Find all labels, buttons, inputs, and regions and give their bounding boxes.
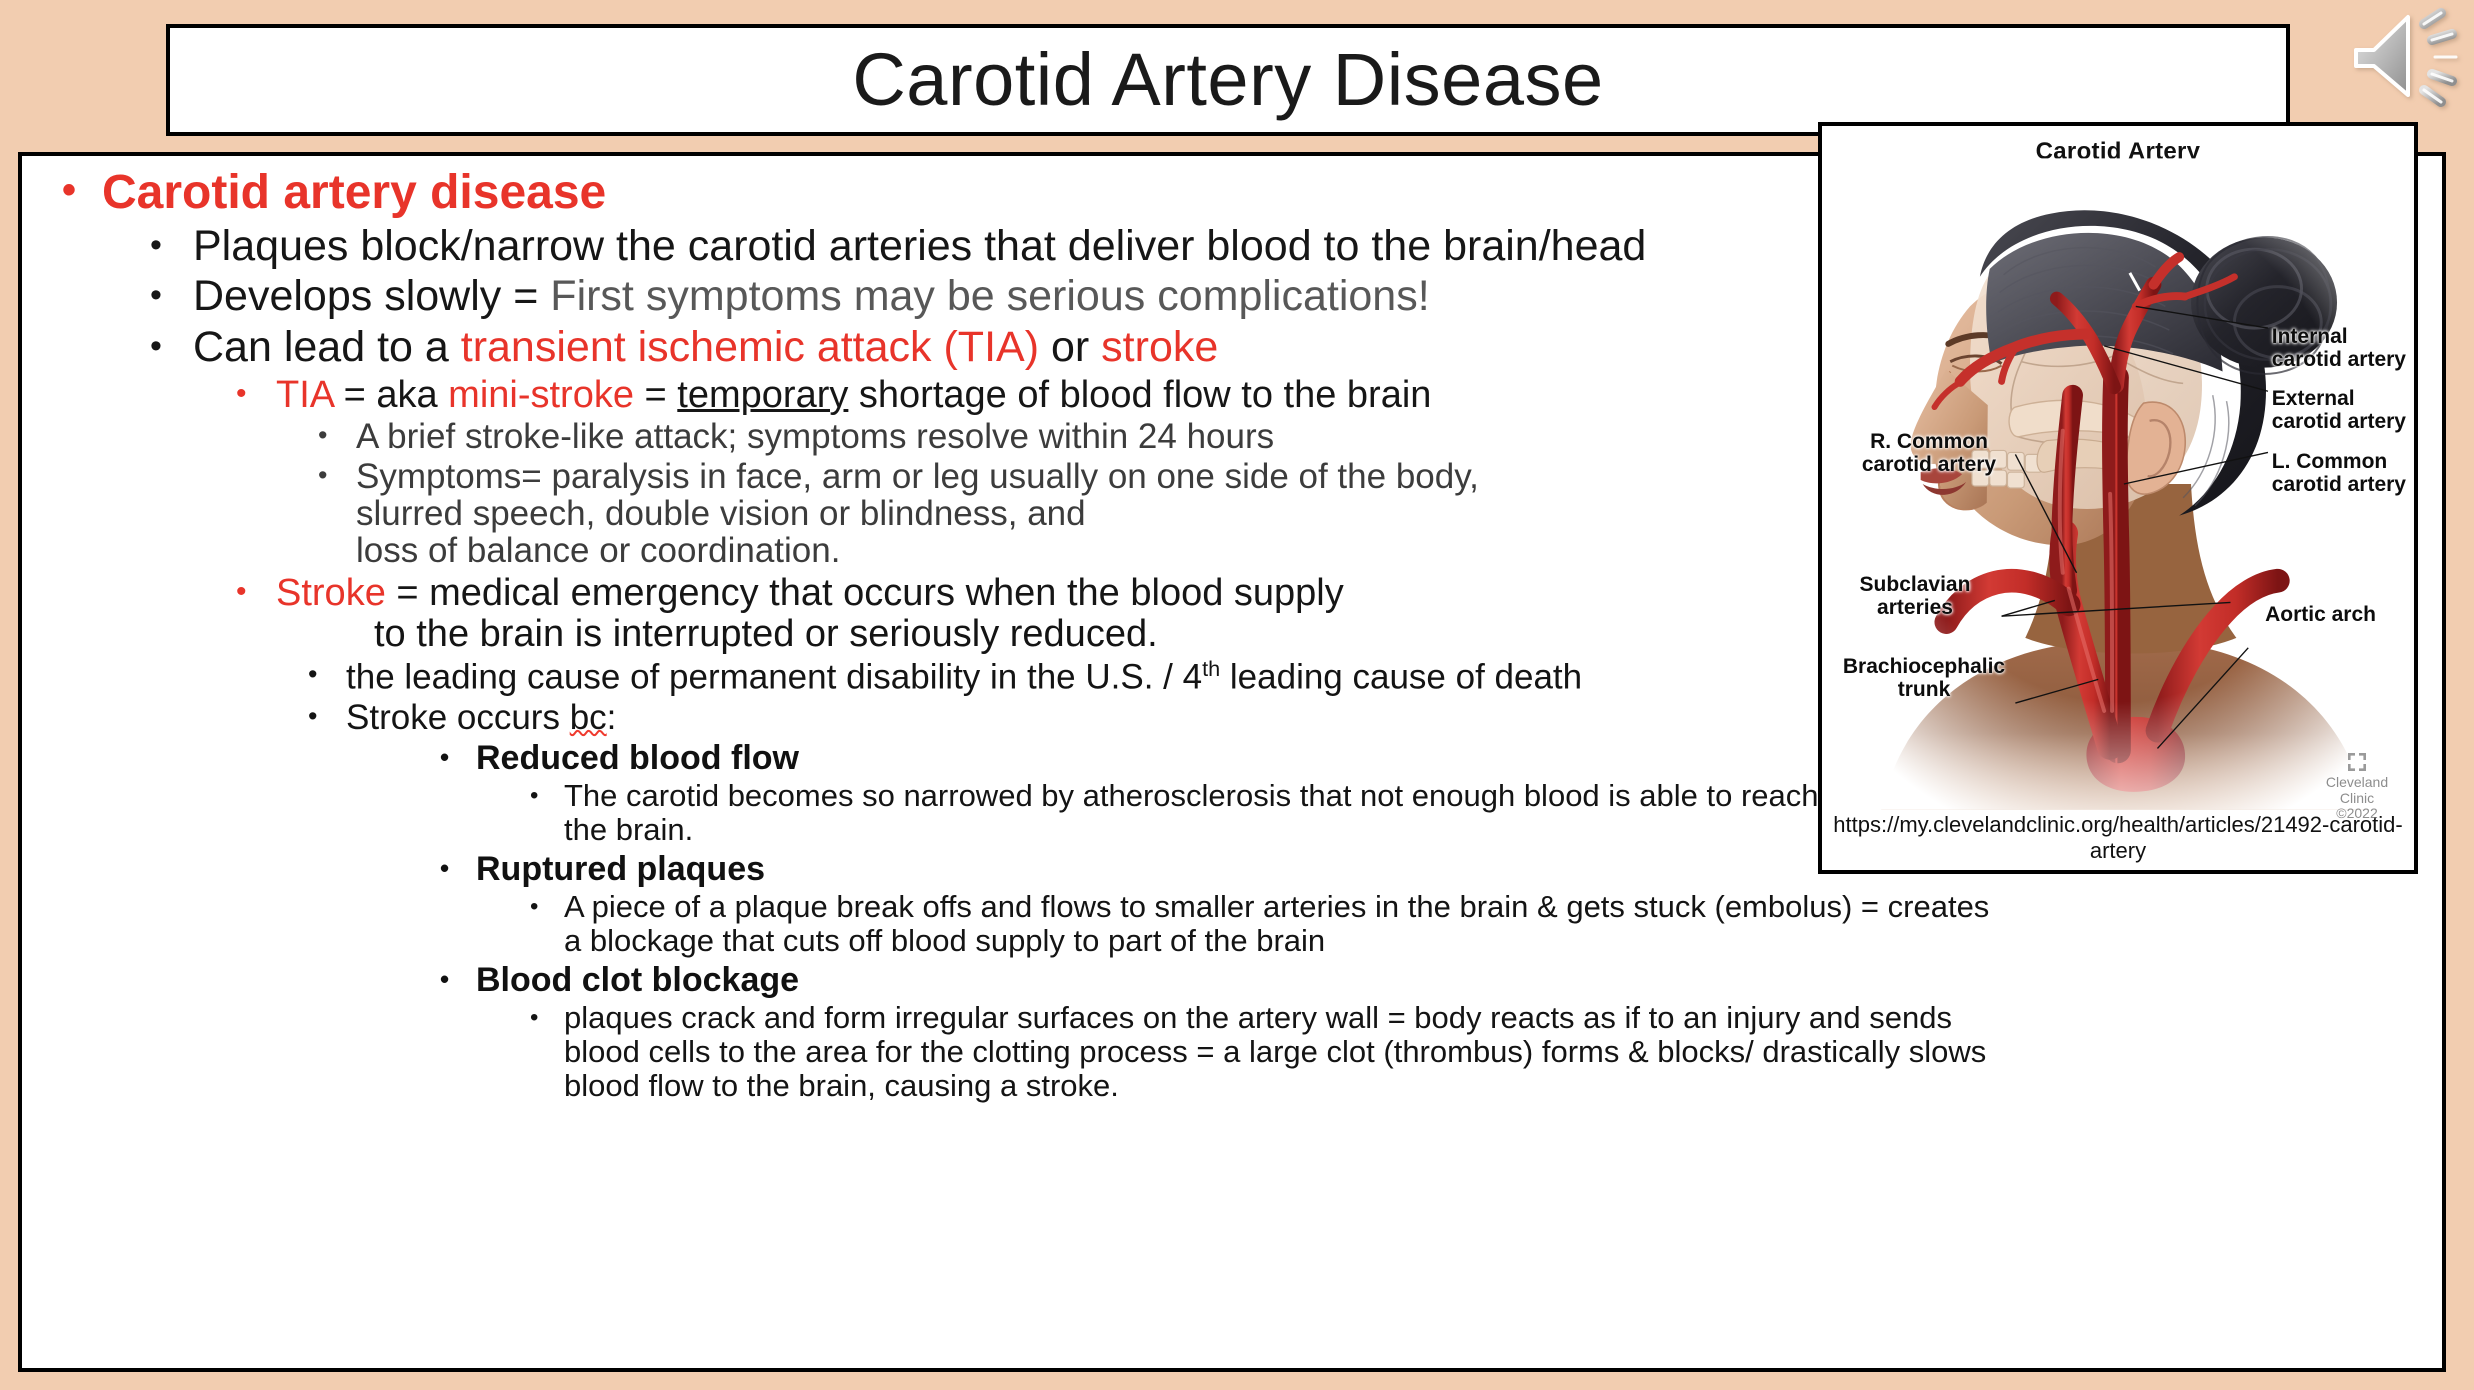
leading-b: leading cause of death bbox=[1220, 657, 1582, 696]
source-url[interactable]: https://my.clevelandclinic.org/health/ar… bbox=[1822, 812, 2414, 864]
cleveland-clinic-logo-icon bbox=[2347, 752, 2367, 772]
clot-line2: blood cells to the area for the clotting… bbox=[564, 1034, 1986, 1069]
develops-label: Develops slowly = bbox=[193, 272, 550, 320]
bullet-marker: • bbox=[236, 573, 276, 611]
reduced-line1: The carotid becomes so narrowed by ather… bbox=[564, 778, 1972, 813]
bullet-marker: • bbox=[150, 325, 193, 368]
label-line1: External bbox=[2272, 387, 2355, 410]
tia-eq: = bbox=[634, 374, 677, 416]
clot-line1: plaques crack and form irregular surface… bbox=[564, 1000, 1952, 1035]
bullet-marker: • bbox=[236, 375, 276, 413]
bullet-text: plaques crack and form irregular surface… bbox=[564, 1001, 2434, 1103]
tia-rest: shortage of blood flow to the brain bbox=[848, 374, 1431, 416]
ruptured-line1: A piece of a plaque break offs and flows… bbox=[564, 889, 1989, 924]
bullet-marker: • bbox=[530, 779, 564, 812]
label-internal-carotid-artery: Internal carotid artery bbox=[2272, 326, 2406, 371]
label-line1: Brachiocephalic bbox=[1843, 655, 2005, 678]
canlead-stroke: stroke bbox=[1101, 323, 1218, 371]
ruptured-line2: a blockage that cuts off blood supply to… bbox=[564, 923, 1325, 958]
tia-term: TIA bbox=[276, 374, 333, 416]
bullet-text: Blood clot blockage bbox=[476, 962, 2434, 998]
canlead-tia: transient ischemic attack (TIA) bbox=[461, 323, 1039, 371]
label-left-common-carotid-artery: L. Common carotid artery bbox=[2272, 451, 2406, 496]
bullet-marker: • bbox=[440, 851, 476, 885]
bullet-marker: • bbox=[318, 458, 356, 493]
bullet-level5-blood-clot-blockage: • Blood clot blockage bbox=[440, 962, 2434, 998]
label-aortic-arch: Aortic arch bbox=[2265, 604, 2376, 627]
tia-temporary: temporary bbox=[677, 374, 848, 416]
bullet-marker: • bbox=[308, 699, 346, 734]
label-line2: carotid artery bbox=[2272, 348, 2406, 371]
bullet-marker: • bbox=[440, 740, 476, 774]
bullet-level6-clot-detail: • plaques crack and form irregular surfa… bbox=[530, 1001, 2434, 1103]
reduced-line2: the brain. bbox=[564, 812, 693, 847]
clot-line3: blood flow to the brain, causing a strok… bbox=[564, 1068, 1119, 1103]
label-line2: arteries bbox=[1877, 596, 1953, 619]
bullet-marker: • bbox=[440, 962, 476, 996]
label-line1: Internal bbox=[2272, 325, 2348, 348]
label-external-carotid-artery: External carotid artery bbox=[2272, 388, 2406, 433]
credit-line2: Clinic bbox=[2340, 790, 2374, 806]
occurs-c: : bbox=[607, 698, 617, 737]
slide-title-box: Carotid Artery Disease bbox=[166, 24, 2290, 136]
leading-ordinal-suffix: th bbox=[1202, 656, 1220, 681]
bullet-text: A piece of a plaque break offs and flows… bbox=[564, 890, 2434, 958]
label-subclavian-arteries: Subclavian arteries bbox=[1830, 574, 2000, 619]
speaker-icon[interactable] bbox=[2328, 4, 2468, 134]
label-line2: carotid artery bbox=[2272, 473, 2406, 496]
canlead-prefix: Can lead to a bbox=[193, 323, 461, 371]
bullet-marker: • bbox=[530, 890, 564, 923]
stroke-def-line2: to the brain is interrupted or seriously… bbox=[374, 614, 1158, 654]
canlead-or: or bbox=[1039, 323, 1101, 371]
tia-aka: = aka bbox=[333, 374, 448, 416]
symptoms-line3: loss of balance or coordination. bbox=[356, 531, 840, 570]
stroke-def: = medical emergency that occurs when the… bbox=[386, 572, 1344, 614]
bullet-marker: • bbox=[150, 274, 193, 317]
label-right-common-carotid-artery: R. Common carotid artery bbox=[1834, 431, 2024, 476]
page-title: Carotid Artery Disease bbox=[852, 43, 1603, 117]
anatomy-image-panel[interactable]: Carotid Artery bbox=[1818, 122, 2418, 874]
label-line2: carotid artery bbox=[1862, 453, 1996, 476]
bullet-marker: • bbox=[308, 657, 346, 692]
develops-emphasis: First symptoms may be serious complicati… bbox=[550, 272, 1429, 320]
symptoms-line2: slurred speech, double vision or blindne… bbox=[356, 494, 1086, 533]
bullet-marker: • bbox=[62, 168, 102, 213]
tia-ministroke: mini-stroke bbox=[448, 374, 634, 416]
stroke-term: Stroke bbox=[276, 572, 386, 614]
occurs-a: Stroke occurs bbox=[346, 698, 570, 737]
label-brachiocephalic-trunk: Brachiocephalic trunk bbox=[1824, 656, 2024, 701]
label-line1: R. Common bbox=[1870, 430, 1988, 453]
label-line2: trunk bbox=[1898, 678, 1951, 701]
credit-line1: Cleveland bbox=[2326, 774, 2388, 790]
bullet-marker: • bbox=[318, 418, 356, 453]
bullet-marker: • bbox=[150, 224, 193, 267]
bullet-level6-ruptured-detail: • A piece of a plaque break offs and flo… bbox=[530, 890, 2434, 958]
bullet-marker: • bbox=[530, 1001, 564, 1034]
symptoms-line1: Symptoms= paralysis in face, arm or leg … bbox=[356, 457, 1479, 496]
leading-a: the leading cause of permanent disabilit… bbox=[346, 657, 1202, 696]
occurs-misspelled-word: bc bbox=[570, 698, 607, 737]
label-line1: Subclavian bbox=[1860, 573, 1971, 596]
label-line2: carotid artery bbox=[2272, 410, 2406, 433]
label-line1: L. Common bbox=[2272, 450, 2388, 473]
